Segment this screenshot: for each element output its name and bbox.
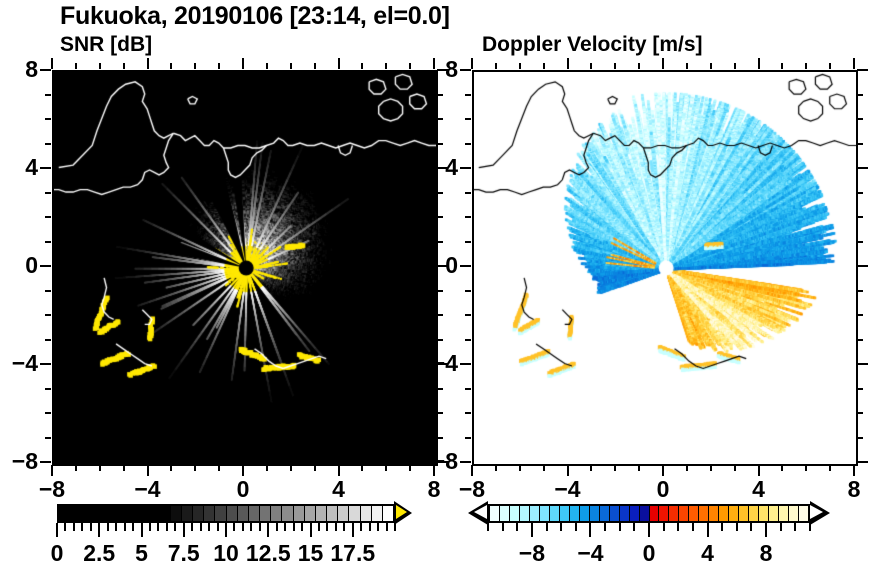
colorbar-segment (520, 506, 530, 521)
y-tick-snr (40, 265, 51, 267)
snr-colorbar-tick (90, 523, 92, 531)
doppler-colorbar[interactable] (488, 504, 810, 523)
colorbar-segment (282, 506, 293, 521)
snr-colorbar-tick (335, 523, 337, 531)
colorbar-segment (316, 506, 327, 521)
snr-colorbar-tick (217, 523, 219, 531)
x-tick-top-dop (519, 63, 521, 69)
doppler-colorbar-under-arrow-inner (474, 505, 487, 519)
x-tick-top-dop (710, 63, 712, 69)
y-tick-snr (45, 290, 51, 292)
y-tick-right-dop (857, 167, 868, 169)
colorbar-segment (580, 506, 590, 521)
colorbar-segment (227, 506, 238, 521)
doppler-colorbar-tick (575, 523, 577, 531)
x-tick-bottom-dop (662, 465, 664, 476)
colorbar-segment (630, 506, 640, 521)
colorbar-segment (215, 506, 226, 521)
colorbar-segment (650, 506, 660, 521)
x-tick-bottom-snr (99, 465, 101, 471)
colorbar-segment (699, 506, 709, 521)
x-tick-top-snr (99, 63, 101, 69)
snr-colorbar-tick (166, 523, 168, 531)
x-tick-top-snr (75, 63, 77, 69)
doppler-colorbar-tick (516, 523, 518, 531)
snr-colorbar-tick (343, 523, 345, 531)
y-tick-dop (465, 143, 471, 145)
snr-colorbar-tick (301, 523, 303, 531)
doppler-colorbar-tick (619, 523, 621, 531)
x-tick-top-snr (409, 63, 411, 69)
snr-colorbar-tick (250, 523, 252, 531)
snr-colorbar-tick (276, 523, 278, 531)
y-tick-right-snr (437, 412, 443, 414)
doppler-colorbar-tick (692, 523, 694, 531)
colorbar-segment (204, 506, 215, 521)
x-tick-bottom-dop (567, 465, 569, 476)
colorbar-segment (669, 506, 679, 521)
snr-colorbar-tick (149, 523, 151, 531)
x-tick-bottom-dop (590, 465, 592, 471)
colorbar-segment (779, 506, 789, 521)
snr-colorbar-tick (98, 523, 100, 537)
colorbar-segment (799, 506, 808, 521)
snr-colorbar-tick (81, 523, 83, 531)
snr-colorbar-tick (225, 523, 227, 537)
x-tick-bottom-snr (361, 465, 363, 471)
x-tick-bottom-snr (218, 465, 220, 471)
x-tick-bottom-dop (686, 465, 688, 471)
snr-colorbar-tick (208, 523, 210, 531)
x-tick-top-dop (686, 63, 688, 69)
y-tick-dop (460, 69, 471, 71)
y-tick-right-snr (437, 290, 443, 292)
snr-colorbar-tick (174, 523, 176, 531)
x-tick-top-snr (385, 63, 387, 69)
x-tick-bottom-snr (75, 465, 77, 471)
snr-colorbar-tick (284, 523, 286, 531)
doppler-colorbar-tick (546, 523, 548, 531)
x-tick-top-dop (543, 63, 545, 69)
y-tick-right-snr (437, 94, 443, 96)
colorbar-segment (560, 506, 570, 521)
y-axis-label-dop: 0 (412, 252, 458, 279)
doppler-colorbar-tick (663, 523, 665, 531)
colorbar-segment (238, 506, 249, 521)
colorbar-segment (739, 506, 749, 521)
y-tick-snr (45, 388, 51, 390)
x-axis-label-dop: −8 (442, 476, 502, 503)
snr-colorbar-tick (157, 523, 159, 531)
x-tick-top-snr (194, 63, 196, 69)
x-tick-top-snr (51, 58, 53, 69)
x-tick-bottom-dop (805, 465, 807, 471)
doppler-colorbar-label: 0 (619, 540, 679, 567)
y-tick-dop (460, 167, 471, 169)
doppler-colorbar-tick (531, 523, 533, 537)
y-axis-label-dop: 4 (412, 154, 458, 181)
x-tick-bottom-snr (409, 465, 411, 471)
x-tick-top-dop (781, 63, 783, 69)
x-tick-bottom-snr (290, 465, 292, 471)
x-axis-label-dop: 0 (633, 476, 693, 503)
doppler-colorbar-label: 4 (678, 540, 738, 567)
y-axis-label-snr: 8 (0, 56, 38, 83)
snr-colorbar-tick (56, 523, 58, 537)
y-tick-snr (45, 412, 51, 414)
colorbar-segment (590, 506, 600, 521)
y-axis-label-dop: −8 (412, 448, 458, 475)
colorbar-segment (530, 506, 540, 521)
x-tick-bottom-snr (266, 465, 268, 471)
y-axis-label-dop: 8 (412, 56, 458, 83)
y-tick-dop (460, 265, 471, 267)
x-tick-bottom-dop (471, 465, 473, 476)
doppler-colorbar-tick (780, 523, 782, 531)
doppler-colorbar-tick (750, 523, 752, 531)
colorbar-segment (361, 506, 372, 521)
colorbar-segment (182, 506, 193, 521)
x-tick-top-dop (805, 63, 807, 69)
y-tick-right-dop (857, 143, 863, 145)
y-tick-snr (45, 314, 51, 316)
doppler-colorbar-tick (721, 523, 723, 531)
doppler-colorbar-label: −4 (560, 540, 620, 567)
y-tick-right-dop (857, 216, 863, 218)
snr-colorbar-tick (352, 523, 354, 537)
colorbar-segment (550, 506, 560, 521)
colorbar-segment (769, 506, 779, 521)
colorbar-segment (679, 506, 689, 521)
x-tick-bottom-dop (853, 465, 855, 476)
x-tick-bottom-snr (170, 465, 172, 471)
colorbar-segment (372, 506, 383, 521)
snr-colorbar-tick (360, 523, 362, 531)
snr-colorbar-tick (293, 523, 295, 531)
x-tick-bottom-snr (242, 465, 244, 476)
x-tick-top-snr (361, 63, 363, 69)
x-tick-bottom-dop (734, 465, 736, 471)
y-tick-dop (460, 363, 471, 365)
y-tick-dop (465, 388, 471, 390)
y-tick-dop (465, 192, 471, 194)
colorbar-segment (659, 506, 669, 521)
x-axis-label-snr: 4 (309, 476, 369, 503)
y-tick-right-dop (857, 69, 868, 71)
snr-colorbar-tick (124, 523, 126, 531)
colorbar-segment (305, 506, 316, 521)
colorbar-segment (510, 506, 520, 521)
snr-colorbar-tick (242, 523, 244, 531)
doppler-colorbar-tick (794, 523, 796, 531)
y-tick-right-snr (437, 118, 443, 120)
snr-colorbar-tick (64, 523, 66, 531)
doppler-colorbar-tick (502, 523, 504, 531)
snr-colorbar-tick (326, 523, 328, 531)
y-tick-right-dop (857, 118, 863, 120)
snr-colorbar-tick (73, 523, 75, 531)
y-tick-right-dop (857, 192, 863, 194)
y-tick-dop (465, 241, 471, 243)
doppler-colorbar-label: 8 (736, 540, 796, 567)
x-axis-label-snr: −8 (22, 476, 82, 503)
x-tick-bottom-dop (781, 465, 783, 471)
x-tick-top-dop (471, 58, 473, 69)
x-tick-top-dop (734, 63, 736, 69)
x-axis-label-dop: −4 (538, 476, 598, 503)
y-tick-snr (45, 216, 51, 218)
x-tick-top-snr (338, 58, 340, 69)
x-tick-bottom-dop (829, 465, 831, 471)
x-tick-top-dop (590, 63, 592, 69)
colorbar-segment (327, 506, 338, 521)
colorbar-segment (338, 506, 349, 521)
doppler-colorbar-tick (589, 523, 591, 537)
colorbar-segment (160, 506, 171, 521)
snr-colorbar-tick (233, 523, 235, 531)
y-tick-right-dop (857, 265, 868, 267)
doppler-colorbar-tick (765, 523, 767, 537)
colorbar-segment (719, 506, 729, 521)
snr-colorbar-tick (318, 523, 320, 531)
colorbar-segment (115, 506, 126, 521)
y-tick-snr (40, 167, 51, 169)
snr-panel-title: SNR [dB] (60, 33, 152, 57)
y-tick-right-dop (857, 461, 868, 463)
y-tick-right-snr (437, 314, 443, 316)
colorbar-segment (759, 506, 769, 521)
snr-colorbar-tick (267, 523, 269, 537)
y-tick-right-snr (437, 192, 443, 194)
colorbar-segment (137, 506, 148, 521)
colorbar-segment (104, 506, 115, 521)
colorbar-segment (620, 506, 630, 521)
colorbar-segment (490, 506, 500, 521)
colorbar-segment (126, 506, 137, 521)
colorbar-segment (640, 506, 650, 521)
snr-colorbar-tick (107, 523, 109, 531)
x-tick-top-dop (638, 63, 640, 69)
x-tick-bottom-snr (314, 465, 316, 471)
colorbar-segment (193, 506, 204, 521)
y-tick-right-dop (857, 290, 863, 292)
colorbar-segment (81, 506, 92, 521)
x-tick-top-dop (758, 58, 760, 69)
doppler-colorbar-tick (604, 523, 606, 531)
snr-colorbar-tick (310, 523, 312, 537)
colorbar-segment (59, 506, 70, 521)
snr-colorbar-tick (259, 523, 261, 531)
snr-colorbar-tick (377, 523, 379, 531)
snr-colorbar-tick (386, 523, 388, 531)
x-tick-top-snr (218, 63, 220, 69)
snr-colorbar-saturation-swatch (396, 505, 407, 519)
colorbar-segment (709, 506, 719, 521)
y-axis-label-snr: 4 (0, 154, 38, 181)
figure-title: Fukuoka, 20190106 [23:14, el=0.0] (60, 2, 450, 31)
doppler-radar-image (474, 72, 856, 464)
y-tick-right-dop (857, 363, 868, 365)
x-tick-top-dop (567, 58, 569, 69)
colorbar-segment (600, 506, 610, 521)
y-tick-dop (465, 437, 471, 439)
doppler-colorbar-tick (736, 523, 738, 531)
x-axis-label-snr: −4 (118, 476, 178, 503)
y-tick-right-dop (857, 339, 863, 341)
doppler-colorbar-tick (677, 523, 679, 531)
colorbar-segment (749, 506, 759, 521)
y-tick-dop (465, 339, 471, 341)
x-tick-top-snr (123, 63, 125, 69)
y-axis-label-dop: −4 (412, 350, 458, 377)
x-tick-top-snr (314, 63, 316, 69)
snr-colorbar-label: 17.5 (323, 540, 383, 567)
doppler-plot-area[interactable] (472, 70, 858, 466)
snr-colorbar-tick (132, 523, 134, 531)
doppler-colorbar-tick (633, 523, 635, 531)
y-tick-right-dop (857, 94, 863, 96)
colorbar-segment (294, 506, 305, 521)
x-tick-top-snr (147, 58, 149, 69)
x-tick-bottom-dop (495, 465, 497, 471)
y-tick-snr (40, 69, 51, 71)
colorbar-segment (610, 506, 620, 521)
snr-plot-area[interactable] (52, 70, 438, 466)
doppler-colorbar-tick (648, 523, 650, 537)
y-tick-snr (40, 461, 51, 463)
x-tick-top-dop (829, 63, 831, 69)
y-tick-right-dop (857, 388, 863, 390)
colorbar-segment (729, 506, 739, 521)
y-tick-snr (45, 339, 51, 341)
colorbar-segment (271, 506, 282, 521)
x-tick-bottom-dop (614, 465, 616, 471)
y-tick-snr (45, 143, 51, 145)
y-tick-right-snr (437, 437, 443, 439)
y-tick-dop (465, 118, 471, 120)
x-tick-bottom-snr (147, 465, 149, 476)
y-tick-right-dop (857, 314, 863, 316)
doppler-colorbar-over-arrow-inner (810, 505, 823, 519)
colorbar-segment (70, 506, 81, 521)
x-tick-bottom-snr (123, 465, 125, 471)
y-tick-dop (465, 314, 471, 316)
x-tick-bottom-dop (710, 465, 712, 471)
snr-colorbar-tick (369, 523, 371, 531)
y-axis-label-snr: −8 (0, 448, 38, 475)
colorbar-segment (789, 506, 799, 521)
y-tick-right-snr (437, 339, 443, 341)
snr-colorbar-tick (141, 523, 143, 537)
x-tick-top-snr (242, 58, 244, 69)
y-tick-right-snr (437, 388, 443, 390)
x-tick-bottom-dop (543, 465, 545, 471)
y-tick-dop (460, 461, 471, 463)
x-tick-bottom-snr (338, 465, 340, 476)
y-tick-right-dop (857, 437, 863, 439)
colorbar-segment (570, 506, 580, 521)
x-axis-label-snr: 0 (213, 476, 273, 503)
x-tick-top-dop (853, 58, 855, 69)
x-axis-label-dop: 8 (824, 476, 870, 503)
doppler-panel-title: Doppler Velocity [m/s] (482, 33, 703, 57)
x-tick-bottom-dop (758, 465, 760, 476)
x-tick-bottom-dop (519, 465, 521, 471)
doppler-colorbar-tick (707, 523, 709, 537)
y-tick-right-snr (437, 216, 443, 218)
colorbar-segment (260, 506, 271, 521)
y-tick-dop (465, 94, 471, 96)
doppler-colorbar-tick (560, 523, 562, 531)
y-axis-label-snr: −4 (0, 350, 38, 377)
colorbar-segment (500, 506, 510, 521)
y-tick-snr (45, 94, 51, 96)
y-tick-snr (45, 437, 51, 439)
y-axis-label-snr: 0 (0, 252, 38, 279)
colorbar-segment (689, 506, 699, 521)
radar-figure: Fukuoka, 20190106 [23:14, el=0.0] SNR [d… (0, 0, 870, 570)
x-tick-bottom-dop (638, 465, 640, 471)
x-tick-bottom-snr (51, 465, 53, 476)
doppler-colorbar-label: −8 (502, 540, 562, 567)
colorbar-segment (93, 506, 104, 521)
colorbar-segment (249, 506, 260, 521)
x-tick-top-dop (495, 63, 497, 69)
y-tick-snr (45, 192, 51, 194)
x-axis-label-dop: 4 (729, 476, 789, 503)
snr-colorbar-tick (183, 523, 185, 537)
colorbar-segment (383, 506, 393, 521)
colorbar-segment (349, 506, 360, 521)
y-tick-snr (45, 241, 51, 243)
y-tick-right-dop (857, 241, 863, 243)
x-tick-top-dop (662, 58, 664, 69)
y-tick-right-snr (437, 241, 443, 243)
y-tick-snr (45, 118, 51, 120)
y-tick-dop (465, 216, 471, 218)
colorbar-segment (171, 506, 182, 521)
colorbar-segment (540, 506, 550, 521)
y-tick-right-dop (857, 412, 863, 414)
y-tick-right-snr (437, 143, 443, 145)
x-tick-top-dop (614, 63, 616, 69)
snr-colorbar-tick (200, 523, 202, 531)
snr-colorbar[interactable] (57, 504, 395, 523)
x-tick-top-snr (266, 63, 268, 69)
y-tick-snr (40, 363, 51, 365)
snr-colorbar-tick (191, 523, 193, 531)
x-tick-bottom-snr (385, 465, 387, 471)
x-tick-top-snr (290, 63, 292, 69)
snr-colorbar-tick (115, 523, 117, 531)
y-tick-dop (465, 412, 471, 414)
x-tick-top-snr (170, 63, 172, 69)
colorbar-segment (148, 506, 159, 521)
snr-radar-image (54, 72, 436, 464)
y-tick-dop (465, 290, 471, 292)
x-tick-bottom-snr (194, 465, 196, 471)
